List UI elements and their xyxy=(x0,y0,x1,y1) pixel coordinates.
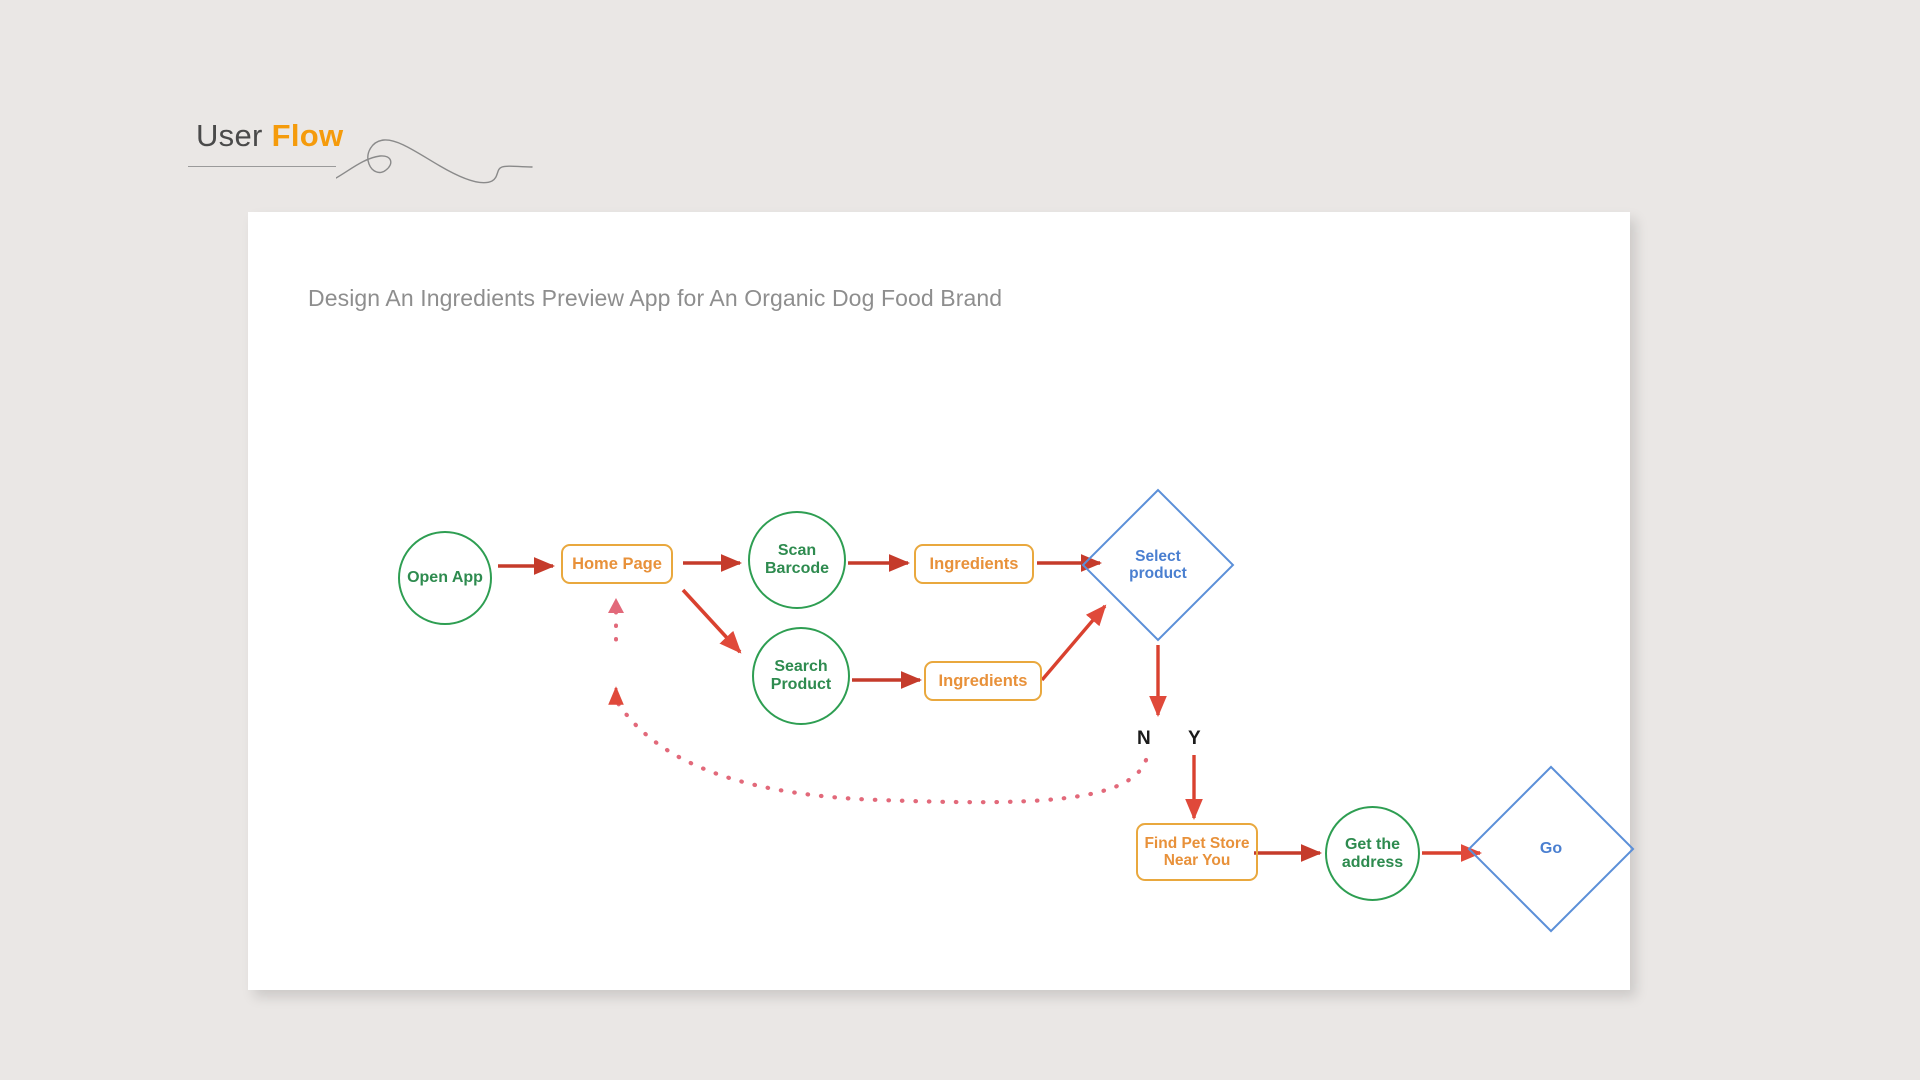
node-select-product-label-2: product xyxy=(1129,565,1187,582)
node-go-label: Go xyxy=(1540,840,1562,858)
node-ingredients-2[interactable]: Ingredients xyxy=(924,661,1042,701)
decorative-squiggle-icon xyxy=(336,134,606,194)
node-ingredients-2-label: Ingredients xyxy=(939,672,1028,690)
node-get-address-label-1: Get the xyxy=(1345,836,1400,854)
node-get-address[interactable]: Get the address xyxy=(1325,806,1420,901)
page-title-accent: Flow xyxy=(272,118,344,153)
node-scan-barcode-label-1: Scan xyxy=(778,542,816,560)
node-ingredients-1-label: Ingredients xyxy=(930,555,1019,573)
node-find-pet-store[interactable]: Find Pet Store Near You xyxy=(1136,823,1258,881)
node-find-pet-store-label-1: Find Pet Store xyxy=(1144,835,1249,852)
node-go[interactable]: Go xyxy=(1492,790,1610,908)
node-get-address-label-2: address xyxy=(1342,854,1403,872)
branch-label-yes: Y xyxy=(1188,728,1201,750)
node-select-product[interactable]: Select product xyxy=(1104,511,1212,619)
node-scan-barcode-label-2: Barcode xyxy=(765,560,829,578)
node-open-app[interactable]: Open App xyxy=(398,531,492,625)
header: User Flow xyxy=(188,118,608,188)
node-open-app-label: Open App xyxy=(407,569,483,587)
go-label: Go xyxy=(1492,790,1610,908)
title-underline xyxy=(188,166,336,167)
node-select-product-label-1: Select xyxy=(1135,548,1181,565)
node-home-page-label: Home Page xyxy=(572,555,662,573)
node-home-page[interactable]: Home Page xyxy=(561,544,673,584)
page-title-plain: User xyxy=(196,118,272,153)
branch-label-no: N xyxy=(1137,728,1151,750)
node-search-product-label-1: Search xyxy=(774,658,827,676)
slide-subtitle: Design An Ingredients Preview App for An… xyxy=(308,285,1002,312)
slide-root: User Flow Design An Ingredients Preview … xyxy=(0,0,1920,1080)
node-find-pet-store-label-2: Near You xyxy=(1164,852,1231,869)
node-search-product-label-2: Product xyxy=(771,676,831,694)
select-product-label: Select product xyxy=(1104,511,1212,619)
node-scan-barcode[interactable]: Scan Barcode xyxy=(748,511,846,609)
node-search-product[interactable]: Search Product xyxy=(752,627,850,725)
page-title: User Flow xyxy=(196,118,343,154)
node-ingredients-1[interactable]: Ingredients xyxy=(914,544,1034,584)
